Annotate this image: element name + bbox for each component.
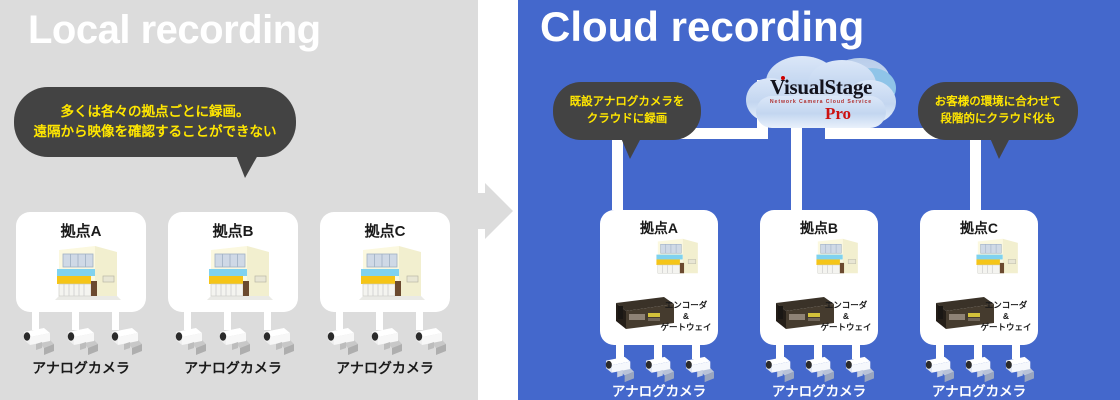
camera-label-b: アナログカメラ — [168, 358, 298, 378]
cloud-site-card-c[interactable]: 拠点C エンコーダ & — [920, 210, 1038, 345]
callout-local-line2: 遠隔から映像を確認することができない — [34, 122, 277, 142]
camera-icon — [218, 326, 252, 356]
site-card-b[interactable]: 拠点B — [168, 212, 298, 312]
camera-icon — [326, 326, 360, 356]
callout-tail — [990, 138, 1010, 159]
camera-icon — [370, 326, 404, 356]
diagram-canvas: Local recording 多くは各々の拠点ごとに録画。 遠隔から映像を確認… — [0, 0, 1120, 400]
site-name-b: 拠点B — [168, 220, 298, 241]
cloud-site-card-a[interactable]: 拠点A エンコーダ & — [600, 210, 718, 345]
callout-local: 多くは各々の拠点ごとに録画。 遠隔から映像を確認することができない — [14, 87, 296, 157]
camera-icon — [604, 355, 636, 383]
cloud-icon — [742, 52, 900, 140]
transition-arrow — [455, 183, 515, 239]
site-name-c: 拠点C — [320, 220, 450, 241]
device-label-a: エンコーダ & ゲートウェイ — [658, 300, 714, 333]
callout-tail — [236, 155, 258, 178]
camera-icon — [262, 326, 296, 356]
page-title-right: Cloud recording — [540, 2, 864, 52]
callout-tail — [621, 138, 641, 159]
callout-local-line1: 多くは各々の拠点ごとに録画。 — [61, 102, 250, 122]
device-label-c-line2: & — [978, 311, 1034, 322]
site-card-a[interactable]: 拠点A — [16, 212, 146, 312]
building-icon — [964, 234, 1022, 278]
device-label-c: エンコーダ & ゲートウェイ — [978, 300, 1034, 333]
device-label-a-line2: & — [658, 311, 714, 322]
callout-existing-line2: クラウドに録画 — [587, 111, 668, 128]
building-icon — [39, 240, 123, 302]
site-name-a: 拠点A — [16, 220, 146, 241]
callout-phased-line2: 段階的にクラウド化も — [941, 111, 1056, 128]
cloud-service-node[interactable]: VisualStage Network Camera Cloud Service… — [742, 52, 900, 140]
site-card-c[interactable]: 拠点C — [320, 212, 450, 312]
cloud-camera-label-a: アナログカメラ — [600, 380, 718, 400]
camera-icon — [110, 326, 144, 356]
device-label-a-line1: エンコーダ — [658, 300, 714, 311]
camera-icon — [1004, 355, 1036, 383]
device-label-b-line1: エンコーダ — [818, 300, 874, 311]
camera-icon — [22, 326, 56, 356]
camera-icon — [66, 326, 100, 356]
device-label-b: エンコーダ & ゲートウェイ — [818, 300, 874, 333]
camera-row-a — [22, 326, 144, 356]
device-label-a-line3: ゲートウェイ — [658, 322, 714, 333]
camera-row-c — [326, 326, 448, 356]
building-icon — [191, 240, 275, 302]
cloud-camera-row-a — [604, 355, 716, 383]
callout-existing-cameras: 既設アナログカメラを クラウドに録画 — [553, 82, 701, 140]
device-label-c-line1: エンコーダ — [978, 300, 1034, 311]
camera-label-c: アナログカメラ — [320, 358, 450, 378]
camera-row-b — [174, 326, 296, 356]
building-icon — [804, 234, 862, 278]
building-icon — [343, 240, 427, 302]
cloud-camera-row-b — [764, 355, 876, 383]
cloud-site-card-b[interactable]: 拠点B エンコーダ & — [760, 210, 878, 345]
camera-icon — [174, 326, 208, 356]
device-label-c-line3: ゲートウェイ — [978, 322, 1034, 333]
page-title-left: Local recording — [28, 6, 321, 54]
camera-icon — [764, 355, 796, 383]
cloud-camera-label-b: アナログカメラ — [760, 380, 878, 400]
camera-icon — [414, 326, 448, 356]
callout-phased-migration: お客様の環境に合わせて 段階的にクラウド化も — [918, 82, 1078, 140]
camera-label-a: アナログカメラ — [16, 358, 146, 378]
building-icon — [644, 234, 702, 278]
camera-icon — [644, 355, 676, 383]
device-label-b-line2: & — [818, 311, 874, 322]
camera-icon — [844, 355, 876, 383]
cloud-camera-row-c — [924, 355, 1036, 383]
callout-existing-line1: 既設アナログカメラを — [570, 94, 685, 111]
camera-icon — [964, 355, 996, 383]
cloud-camera-label-c: アナログカメラ — [920, 380, 1038, 400]
camera-icon — [924, 355, 956, 383]
camera-icon — [684, 355, 716, 383]
device-label-b-line3: ゲートウェイ — [818, 322, 874, 333]
callout-phased-line1: お客様の環境に合わせて — [935, 94, 1062, 111]
camera-icon — [804, 355, 836, 383]
